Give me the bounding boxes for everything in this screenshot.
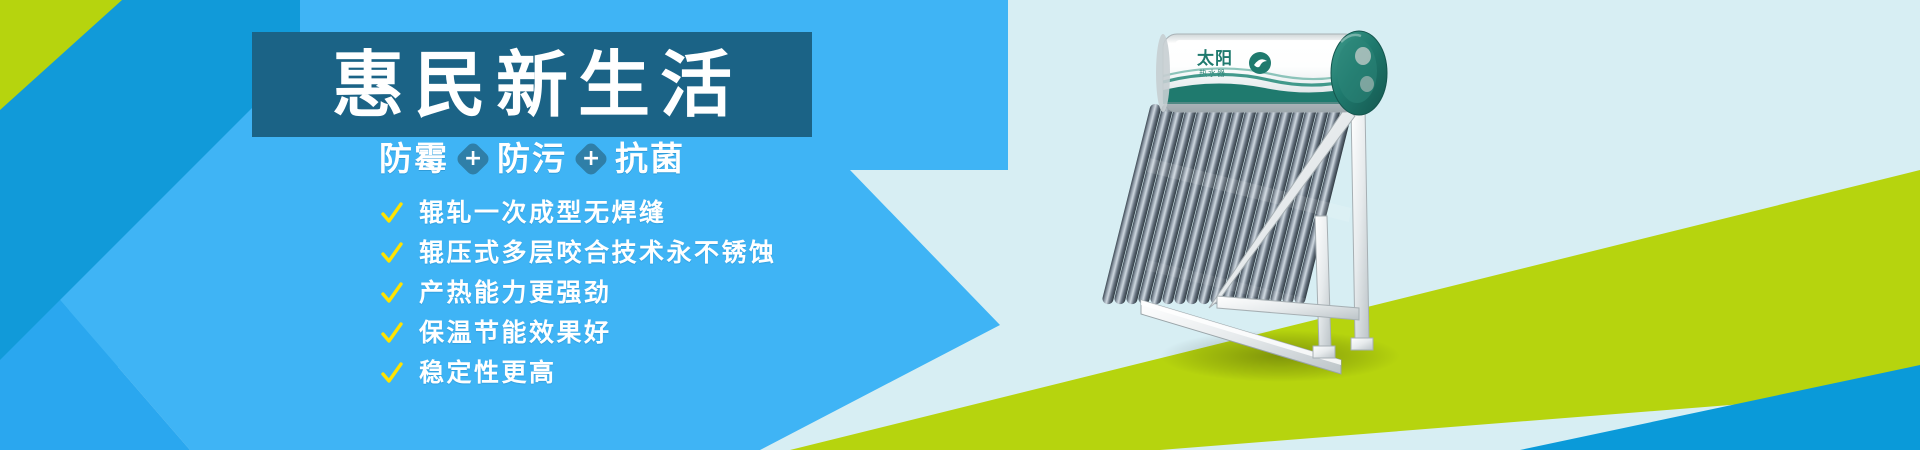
tank-left-edge (1156, 34, 1170, 112)
list-item: 稳定性更高 (380, 356, 777, 389)
plus-icon: + (455, 140, 492, 177)
feature-label: 稳定性更高 (419, 360, 557, 385)
tank-brand-label: 太阳 (1197, 48, 1233, 69)
plus-glyph: + (582, 147, 600, 169)
subtitle-part-2: 防污 (497, 142, 567, 175)
title-box: 惠民新生活 (252, 32, 812, 137)
feature-label: 辊轧一次成型无焊缝 (419, 200, 667, 225)
page-title: 惠民新生活 (322, 49, 742, 121)
check-icon (380, 281, 404, 305)
promo-banner: 惠民新生活 防霉 + 防污 + 抗菌 辊轧一次成型无焊缝 辊压式多层咬合技术永不… (0, 0, 1920, 450)
wave-swirl-logo-icon (1249, 52, 1271, 74)
list-item: 辊压式多层咬合技术永不锈蚀 (380, 236, 777, 269)
list-item: 保温节能效果好 (380, 316, 777, 349)
product-image-solar-water-heater: 太阳 热水器 (1145, 8, 1475, 388)
tank-sub-label: 热水器 (1199, 68, 1226, 78)
check-icon (380, 321, 404, 345)
water-tank: 太阳 热水器 (1163, 34, 1359, 112)
plus-glyph: + (464, 147, 482, 169)
feature-label: 辊压式多层咬合技术永不锈蚀 (419, 240, 777, 265)
feature-label: 产热能力更强劲 (419, 280, 612, 305)
feature-label: 保温节能效果好 (419, 320, 612, 345)
subtitle-row: 防霉 + 防污 + 抗菌 (252, 142, 812, 175)
tank-end-cap (1331, 31, 1387, 115)
feature-list: 辊轧一次成型无焊缝 辊压式多层咬合技术永不锈蚀 产热能力更强劲 保温节能效果好 (380, 196, 777, 389)
subtitle-part-3: 抗菌 (615, 142, 685, 175)
list-item: 辊轧一次成型无焊缝 (380, 196, 777, 229)
check-icon (380, 241, 404, 265)
plus-icon: + (573, 140, 610, 177)
list-item: 产热能力更强劲 (380, 276, 777, 309)
check-icon (380, 201, 404, 225)
check-icon (380, 361, 404, 385)
subtitle-part-1: 防霉 (379, 142, 449, 175)
